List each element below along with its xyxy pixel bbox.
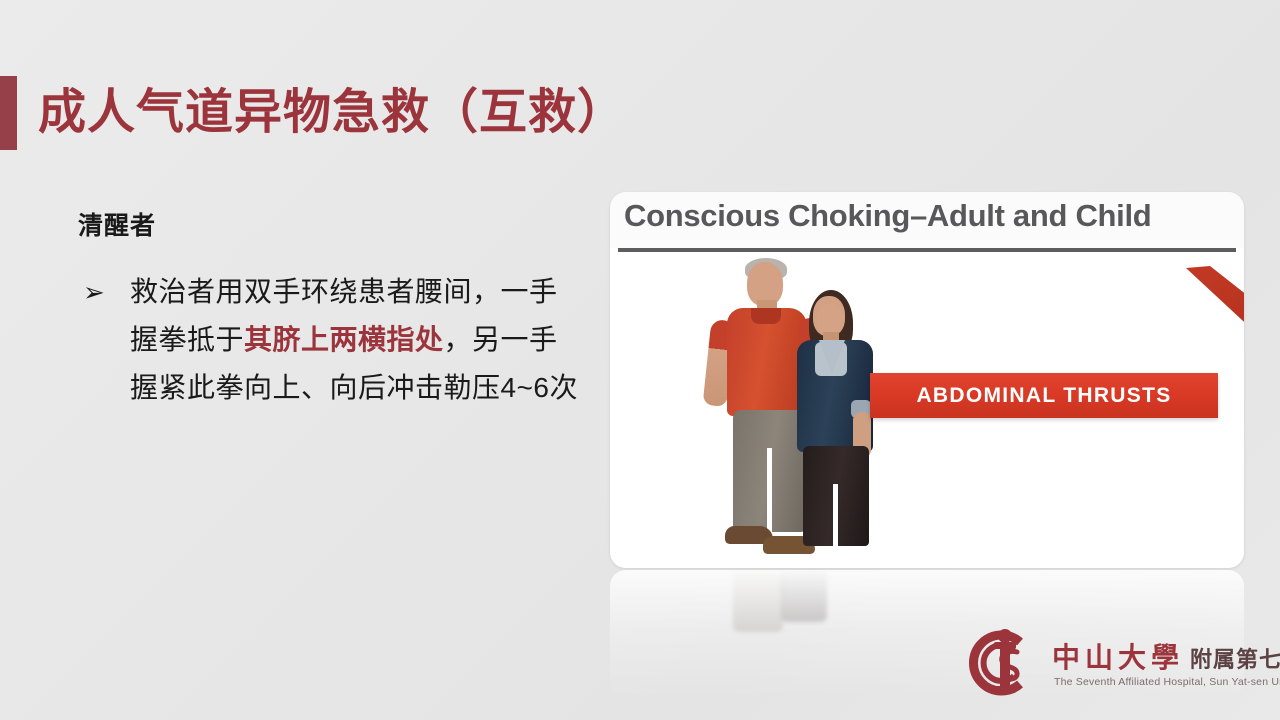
hospital-logo-text-en: The Seventh Affiliated Hospital, Sun Yat… xyxy=(1054,676,1280,688)
callout-label: ABDOMINAL THRUSTS xyxy=(870,373,1218,418)
callout-group: ABDOMINAL THRUSTS xyxy=(858,260,1230,430)
bullet-text: 救治者用双手环绕患者腰间，一手握拳抵于其脐上两横指处，另一手握紧此拳向上、向后冲… xyxy=(130,268,578,412)
panel-title: Conscious Choking–Adult and Child xyxy=(624,198,1151,234)
hospital-logo: 中山大學附属第七医院 The Seventh Affiliated Hospit… xyxy=(968,624,1248,702)
bullet-item: ➢ 救治者用双手环绕患者腰间，一手握拳抵于其脐上两横指处，另一手握紧此拳向上、向… xyxy=(78,268,578,412)
bullet-arrow-icon: ➢ xyxy=(78,268,130,316)
hospital-logo-icon xyxy=(968,626,1042,700)
man-torso xyxy=(727,308,807,416)
subheading: 清醒者 xyxy=(78,206,578,242)
content-column: 清醒者 ➢ 救治者用双手环绕患者腰间，一手握拳抵于其脐上两横指处，另一手握紧此拳… xyxy=(78,206,578,412)
photo-reflection xyxy=(685,568,915,678)
callout-banner: ABDOMINAL THRUSTS xyxy=(870,373,1218,418)
woman-leg-gap xyxy=(833,484,838,546)
bullet-highlight: 其脐上两横指处 xyxy=(244,324,444,355)
affiliate-name-cn: 附属第七医院 xyxy=(1190,647,1280,673)
title-accent-bar xyxy=(0,76,17,150)
university-name-cn: 中山大學 xyxy=(1052,641,1184,674)
reflection-shape-a xyxy=(733,568,783,632)
man-leg-gap xyxy=(767,448,772,532)
slide-canvas: 成人气道异物急救（互救） 清醒者 ➢ 救治者用双手环绕患者腰间，一手握拳抵于其脐… xyxy=(0,0,1280,720)
man-collar xyxy=(751,308,781,324)
image-panel: Conscious Choking–Adult and Child xyxy=(610,192,1244,568)
panel-body: ABDOMINAL THRUSTS xyxy=(610,252,1244,568)
page-title: 成人气道异物急救（互救） xyxy=(38,76,626,150)
panel-header: Conscious Choking–Adult and Child xyxy=(610,192,1244,248)
callout-pointer-wedge xyxy=(1184,266,1244,384)
reflection-shape-b xyxy=(781,568,827,622)
hospital-logo-text-cn: 中山大學附属第七医院 xyxy=(1052,636,1280,676)
